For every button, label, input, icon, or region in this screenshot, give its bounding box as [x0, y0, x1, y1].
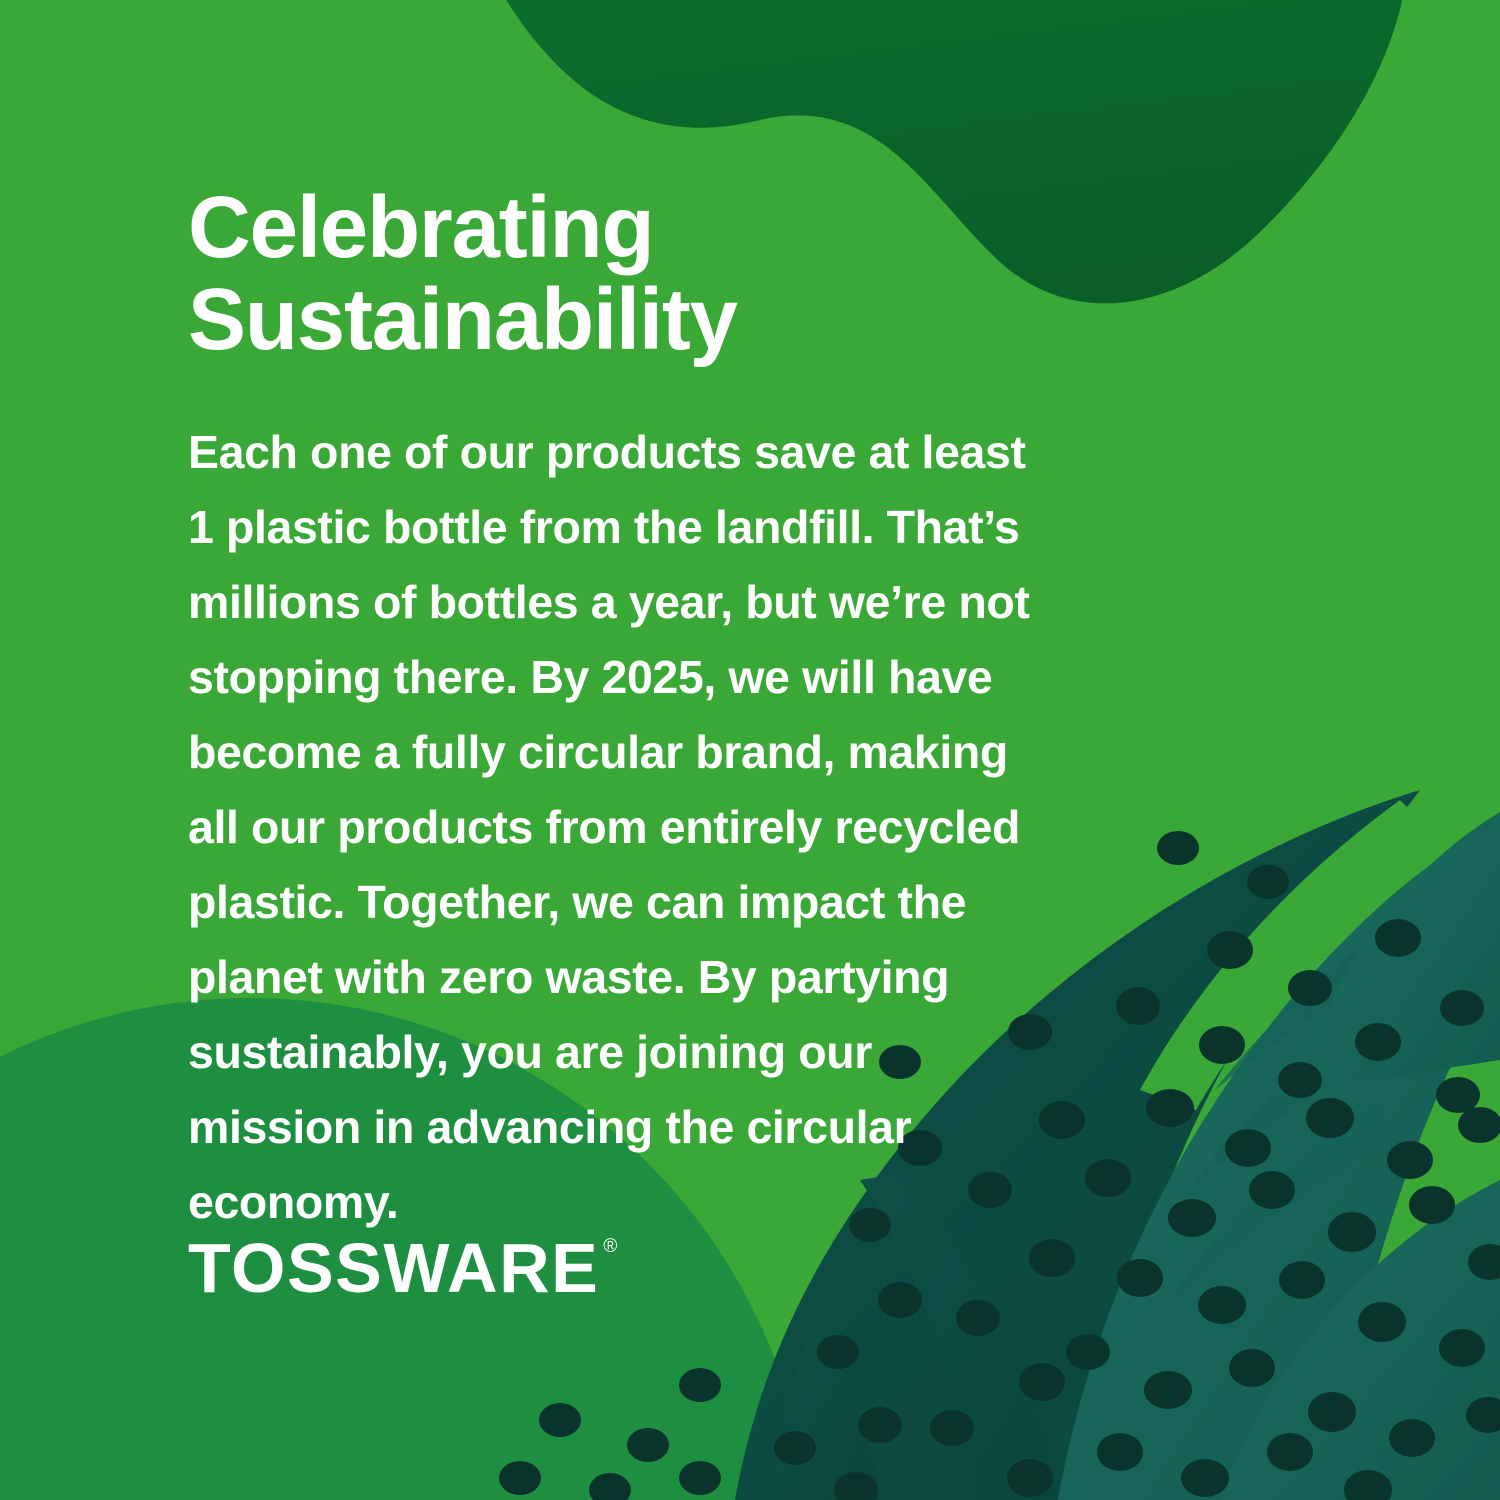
page-title: Celebrating Sustainability	[188, 182, 1088, 366]
registered-trademark-icon: ®	[603, 1237, 617, 1256]
brand-wordmark: TOSSWARE	[188, 1233, 599, 1303]
body-paragraph: Each one of our products save at least 1…	[188, 415, 1048, 1240]
poster-content: Celebrating Sustainability Each one of o…	[0, 0, 1500, 1500]
sustainability-poster: Celebrating Sustainability Each one of o…	[0, 0, 1500, 1500]
brand-logo: TOSSWARE ®	[188, 1233, 617, 1303]
